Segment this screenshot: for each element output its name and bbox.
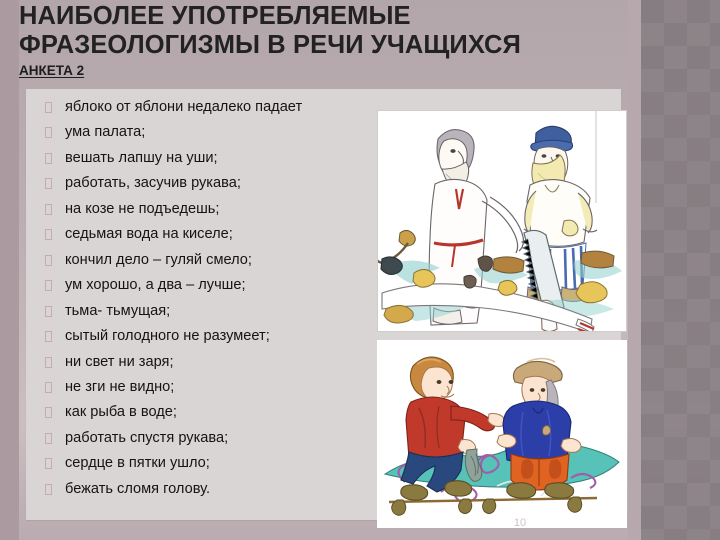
bullet-box-icon xyxy=(45,382,52,393)
list-item-label: как рыба в воде; xyxy=(65,404,177,420)
list-item: сердце в пятки ушло; xyxy=(36,451,376,476)
list-item: работать спустя рукава; xyxy=(36,426,376,451)
bullet-box-icon xyxy=(45,255,52,266)
bullet-box-icon xyxy=(45,331,52,342)
bullet-box-icon xyxy=(45,484,52,495)
bullet-box-icon xyxy=(45,458,52,469)
bullet-box-icon xyxy=(45,178,52,189)
title-block: НАИБОЛЕЕ УПОТРЕБЛЯЕМЫЕ ФРАЗЕОЛОГИЗМЫ В Р… xyxy=(19,2,619,80)
list-item-label: работать, засучив рукава; xyxy=(65,175,241,191)
list-item-label: ум хорошо, а два – лучше; xyxy=(65,277,246,293)
page-number: 10 xyxy=(480,517,560,529)
slide-canvas: НАИБОЛЕЕ УПОТРЕБЛЯЕМЫЕ ФРАЗЕОЛОГИЗМЫ В Р… xyxy=(0,0,720,540)
page-title-line-1: НАИБОЛЕЕ УПОТРЕБЛЯЕМЫЕ xyxy=(19,2,619,31)
bullet-box-icon xyxy=(45,433,52,444)
bullet-box-icon xyxy=(45,357,52,368)
list-item-label: на козе не подъедешь; xyxy=(65,201,219,217)
bullet-box-icon xyxy=(45,204,52,215)
bullet-box-icon xyxy=(45,102,52,113)
bullet-box-icon xyxy=(45,153,52,164)
two-boys-on-carpet-illustration xyxy=(377,340,627,528)
bullet-box-icon xyxy=(45,280,52,291)
bullet-box-icon xyxy=(45,127,52,138)
list-item: не зги не видно; xyxy=(36,375,376,400)
list-item: на козе не подъедешь; xyxy=(36,197,376,222)
list-item-label: работать спустя рукава; xyxy=(65,430,228,446)
list-item: работать, засучив рукава; xyxy=(36,171,376,196)
list-item-label: яблоко от яблони недалеко падает xyxy=(65,99,302,115)
list-item: ум хорошо, а два – лучше; xyxy=(36,273,376,298)
list-item-label: ни свет ни заря; xyxy=(65,354,174,370)
slide-right-band-edge xyxy=(628,0,642,540)
list-item-label: седьмая вода на киселе; xyxy=(65,226,233,242)
idiom-list: яблоко от яблони недалеко падает ума пал… xyxy=(36,95,376,502)
slide-right-diamond-band xyxy=(641,0,720,540)
list-item-label: вешать лапшу на уши; xyxy=(65,150,218,166)
list-item: яблоко от яблони недалеко падает xyxy=(36,95,376,120)
list-item-label: бежать сломя голову. xyxy=(65,481,210,497)
list-item-label: сердце в пятки ушло; xyxy=(65,455,210,471)
list-item: сытый голодного не разумеет; xyxy=(36,324,376,349)
bullet-box-icon xyxy=(45,229,52,240)
list-item: седьмая вода на киселе; xyxy=(36,222,376,247)
list-item-label: тьма- тьмущая; xyxy=(65,303,170,319)
list-item: кончил дело – гуляй смело; xyxy=(36,248,376,273)
list-item-label: сытый голодного не разумеет; xyxy=(65,328,270,344)
list-item-label: не зги не видно; xyxy=(65,379,174,395)
slide-left-rail xyxy=(0,0,19,540)
list-item: ни свет ни заря; xyxy=(36,350,376,375)
page-subtitle: АНКЕТА 2 xyxy=(19,63,84,78)
list-item: бежать сломя голову. xyxy=(36,477,376,502)
list-item-label: ума палата; xyxy=(65,124,145,140)
page-title-line-2: ФРАЗЕОЛОГИЗМЫ В РЕЧИ УЧАЩИХСЯ xyxy=(19,31,619,60)
list-item: ума палата; xyxy=(36,120,376,145)
list-item: вешать лапшу на уши; xyxy=(36,146,376,171)
bullet-box-icon xyxy=(45,306,52,317)
bullet-box-icon xyxy=(45,407,52,418)
list-item: тьма- тьмущая; xyxy=(36,299,376,324)
list-item-label: кончил дело – гуляй смело; xyxy=(65,252,252,268)
two-sawyers-illustration xyxy=(377,110,627,332)
list-item: как рыба в воде; xyxy=(36,400,376,425)
